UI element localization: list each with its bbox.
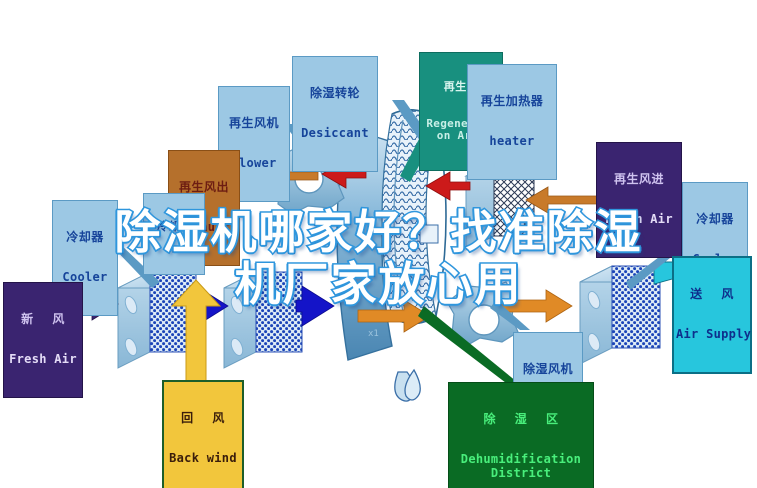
svg-text:x1: x1 [368,329,379,339]
cooler-unit-1 [118,272,196,368]
label-dehumidification-blower-cn: 除湿风机 [516,363,580,376]
label-cooler-left-inner[interactable]: 冷却器 [143,193,205,275]
label-regeneration-heater-en: heater [470,135,554,148]
label-regeneration-blower-cn: 再生风机 [221,117,287,130]
label-air-supply-en: Air Supply [676,328,748,341]
label-desiccant-wheel-cn: 除湿转轮 [295,87,375,100]
cooler-unit-3 [580,266,660,364]
label-air-supply[interactable]: 送 风 Air Supply [672,256,752,374]
label-regeneration-heater[interactable]: 再生加热器 heater [467,64,557,180]
label-desiccant-wheel-en: Desiccant [295,127,375,140]
label-back-wind-cn: 回 风 [166,412,240,425]
label-fresh-air-intake[interactable]: 新 风 Fresh Air [3,282,83,398]
dehumidifier-process-diagram: x1 [0,0,757,488]
label-dehumidification-district[interactable]: 除 湿 区 Dehumidification District [448,382,594,488]
label-back-wind-en: Back wind [166,452,240,465]
process-air-arrow-2 [296,286,334,326]
water-drop-icon [395,370,420,401]
label-regeneration-fresh-air[interactable]: 再生风进 Fresh Air [596,142,682,258]
label-regeneration-fresh-air-cn: 再生风进 [599,173,679,186]
label-air-supply-cn: 送 风 [676,288,748,301]
label-desiccant-wheel[interactable]: 除湿转轮 Desiccant [292,56,378,172]
label-back-wind[interactable]: 回 风 Back wind [162,380,244,488]
label-cooler-left-outer-cn: 冷却器 [55,231,115,244]
label-regeneration-heater-cn: 再生加热器 [470,95,554,108]
label-dehumidification-district-cn: 除 湿 区 [451,413,591,426]
label-fresh-air-intake-en: Fresh Air [6,353,80,366]
label-cooler-right-cn: 冷却器 [685,213,745,226]
label-fresh-air-intake-cn: 新 风 [6,313,80,326]
label-regeneration-fresh-air-en: Fresh Air [599,213,679,226]
regen-hot-air-arrow-2 [426,172,470,200]
cooler-unit-2 [224,272,302,368]
label-dehumidification-district-en: Dehumidification District [451,453,591,480]
label-cooler-left-inner-cn: 冷却器 [146,221,202,233]
